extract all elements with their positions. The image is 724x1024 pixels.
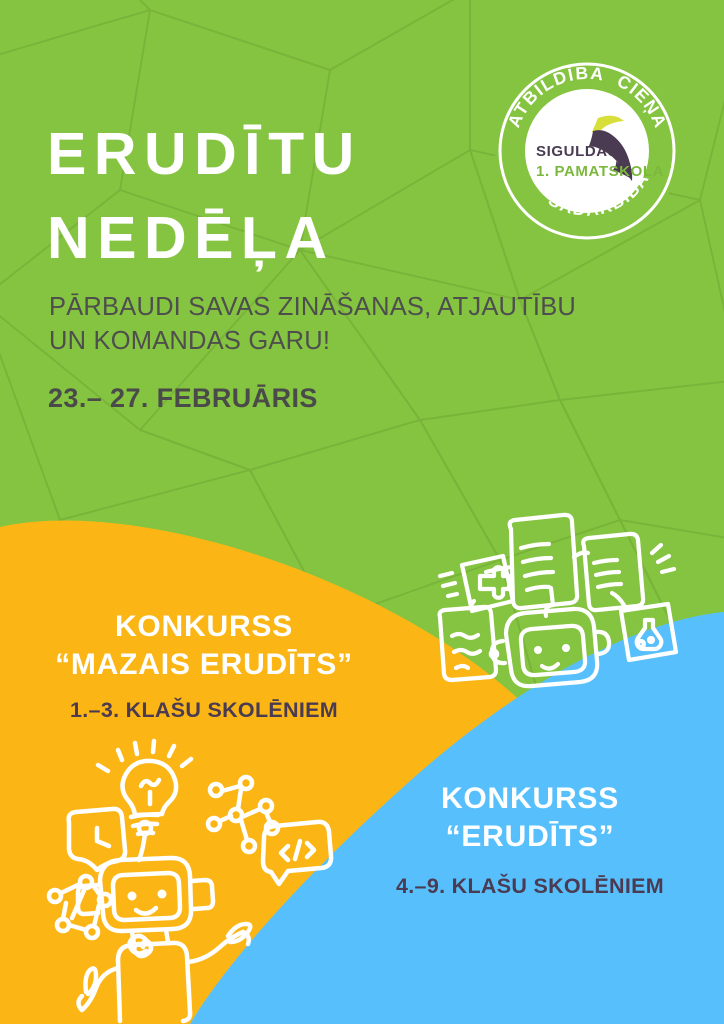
contest-primary-block: KONKURSS “MAZAIS ERUDĪTS” 1.–3. KLAŠU SK… bbox=[0, 608, 408, 723]
contest-secondary-head-2: “ERUDĪTS” bbox=[336, 818, 724, 856]
subtitle-line-2: UN KOMANDAS GARU! bbox=[49, 324, 689, 358]
contest-primary-head-1: KONKURSS bbox=[0, 608, 408, 646]
school-logo: ATBILDĪBA CIEŅA SADARBĪBA SIGULDAS 1. PA… bbox=[494, 58, 680, 244]
event-date: 23.– 27. FEBRUĀRIS bbox=[48, 383, 318, 414]
logo-name-line1: SIGULDAS bbox=[536, 143, 618, 160]
title-line-2: NEDĒĻA bbox=[47, 196, 517, 280]
poster-title: ERUDĪTU NEDĒĻA bbox=[47, 112, 517, 280]
contest-primary-audience: 1.–3. KLAŠU SKOLĒNIEM bbox=[0, 698, 408, 723]
title-line-1: ERUDĪTU bbox=[47, 112, 517, 196]
molecule-icon-right bbox=[208, 777, 278, 852]
code-bubble-icon bbox=[263, 822, 331, 884]
poster-canvas: ATBILDĪBA CIEŅA SADARBĪBA SIGULDAS 1. PA… bbox=[0, 0, 724, 1024]
poster-subtitle: PĀRBAUDI SAVAS ZINĀŠANAS, ATJAUTĪBU UN K… bbox=[49, 290, 689, 358]
contest-secondary-head-1: KONKURSS bbox=[336, 780, 724, 818]
logo-name-line2: 1. PAMATSKOLA bbox=[536, 163, 664, 180]
subtitle-line-1: PĀRBAUDI SAVAS ZINĀŠANAS, ATJAUTĪBU bbox=[49, 290, 689, 324]
contest-primary-head-2: “MAZAIS ERUDĪTS” bbox=[0, 646, 408, 684]
robot-body bbox=[78, 822, 250, 1021]
contest-secondary-block: KONKURSS “ERUDĪTS” 4.–9. KLAŠU SKOLĒNIEM bbox=[336, 780, 724, 899]
contest-secondary-audience: 4.–9. KLAŠU SKOLĒNIEM bbox=[336, 874, 724, 899]
